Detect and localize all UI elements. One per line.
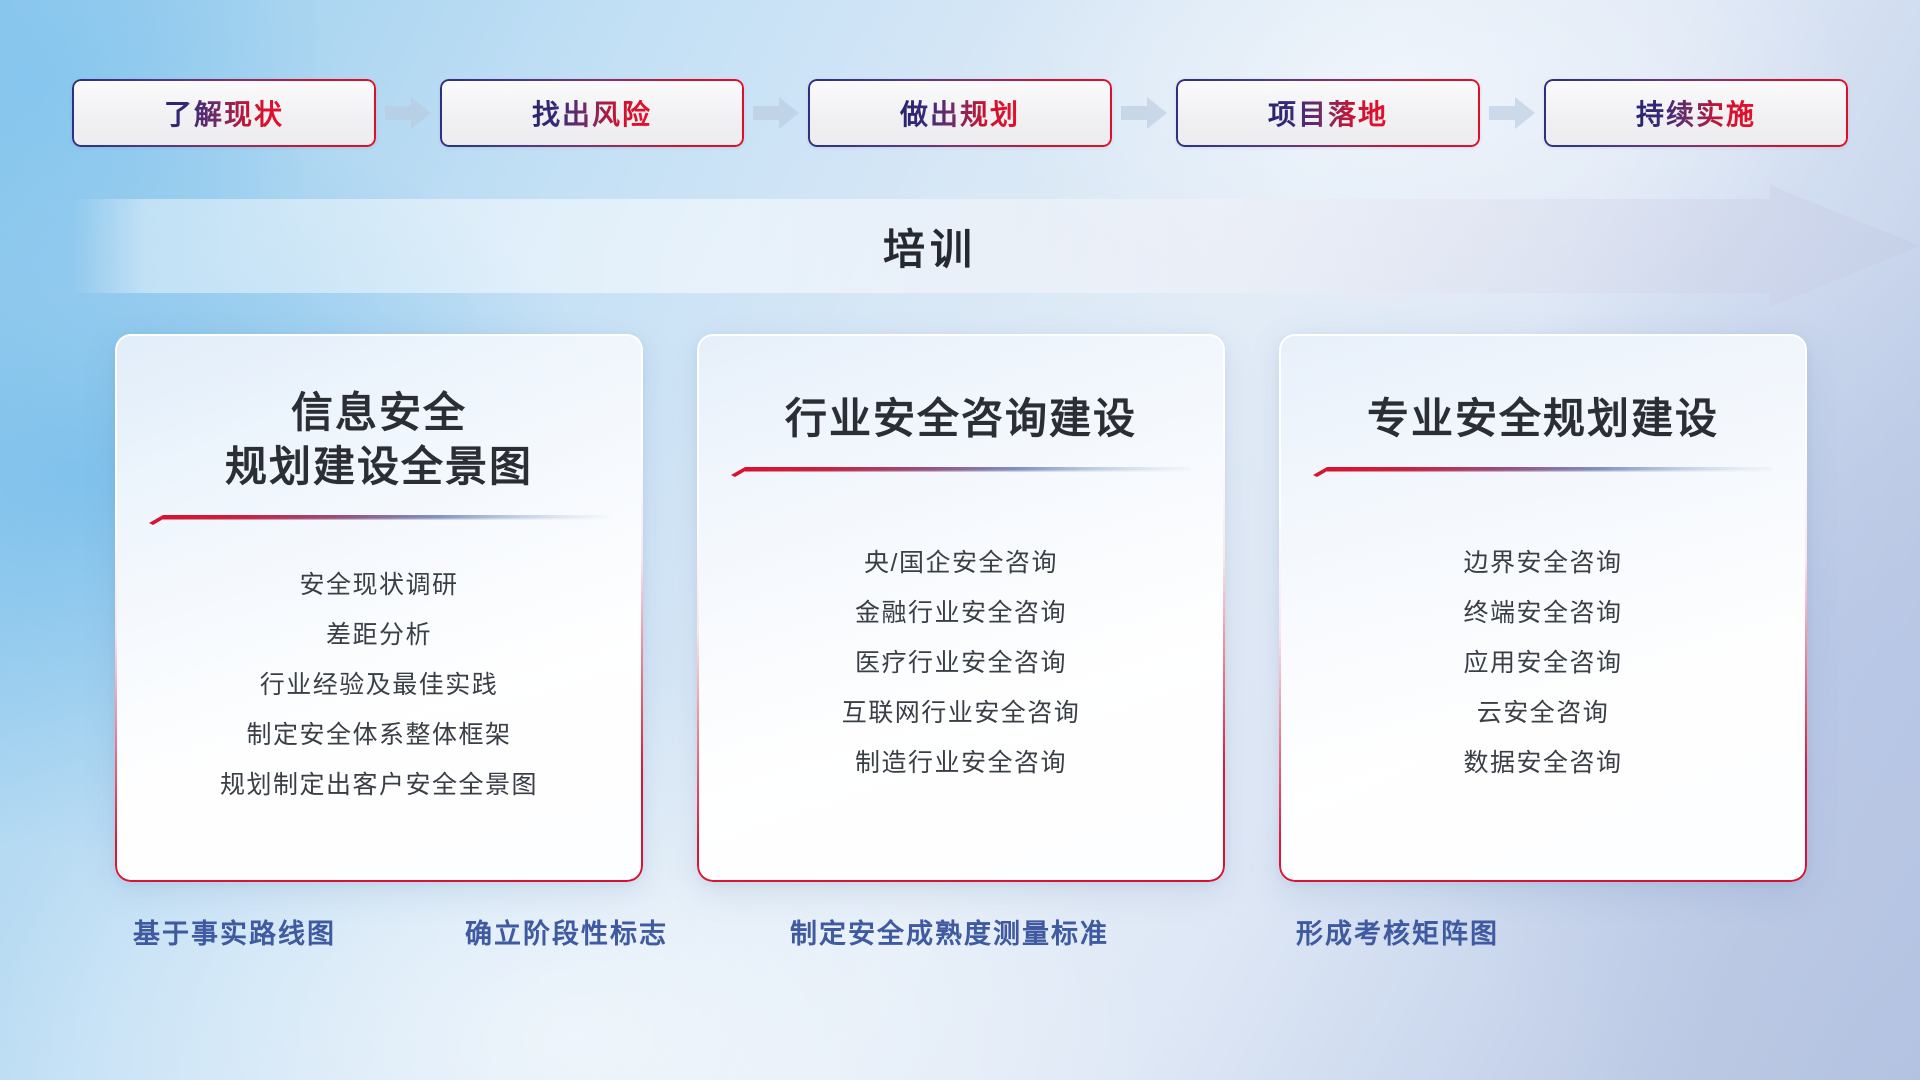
card-industry-security-consulting[interactable]: 行业安全咨询建设 xyxy=(697,334,1225,882)
card-list-item: 行业经验及最佳实践 xyxy=(260,660,499,710)
process-step-label: 持续实施 xyxy=(1636,93,1756,133)
card-title: 专业安全规划建设 xyxy=(1313,392,1773,446)
card-list-item: 数据安全咨询 xyxy=(1463,738,1622,788)
caption-row: 基于事实路线图 确立阶段性标志 制定安全成熟度测量标准 形成考核矩阵图 xyxy=(0,912,1920,960)
card-divider xyxy=(731,464,1191,480)
card-title: 行业安全咨询建设 xyxy=(731,392,1191,446)
card-item-list: 央/国企安全咨询 金融行业安全咨询 医疗行业安全咨询 互联网行业安全咨询 制造行… xyxy=(731,538,1191,788)
banner-title-wrap: 培训 xyxy=(0,185,1920,307)
card-info-security-blueprint[interactable]: 信息安全 规划建设全景图 xyxy=(115,334,643,882)
card-list-item: 云安全咨询 xyxy=(1477,688,1610,738)
card-list-item: 医疗行业安全咨询 xyxy=(855,638,1067,688)
caption-item: 形成考核矩阵图 xyxy=(1296,912,1499,951)
card-list-item: 安全现状调研 xyxy=(299,560,458,610)
arrow-right-icon xyxy=(385,95,431,131)
banner-title: 培训 xyxy=(883,216,977,277)
process-step-row: 了解现状 找出风险 做出规划 项目落地 持续实施 xyxy=(72,78,1848,148)
card-inner: 行业安全咨询建设 xyxy=(697,334,1225,882)
caption-item: 确立阶段性标志 xyxy=(465,912,668,951)
card-list-item: 应用安全咨询 xyxy=(1463,638,1622,688)
arrow-right-icon xyxy=(1121,95,1167,131)
card-list-item: 规划制定出客户安全全景图 xyxy=(220,760,538,810)
card-row: 信息安全 规划建设全景图 xyxy=(0,334,1920,882)
process-step-2[interactable]: 找出风险 xyxy=(440,79,744,147)
process-step-label: 找出风险 xyxy=(532,93,652,133)
card-divider xyxy=(1313,464,1773,480)
training-banner: 培训 xyxy=(0,185,1920,307)
card-list-item: 终端安全咨询 xyxy=(1463,588,1622,638)
card-title-line: 信息安全 xyxy=(149,386,609,440)
process-step-5[interactable]: 持续实施 xyxy=(1544,79,1848,147)
process-step-label: 做出规划 xyxy=(900,93,1020,133)
arrow-right-icon xyxy=(753,95,799,131)
card-item-list: 边界安全咨询 终端安全咨询 应用安全咨询 云安全咨询 数据安全咨询 xyxy=(1313,538,1773,788)
card-divider xyxy=(149,512,609,528)
card-inner: 信息安全 规划建设全景图 xyxy=(115,334,643,882)
card-list-item: 互联网行业安全咨询 xyxy=(842,688,1081,738)
card-list-item: 制造行业安全咨询 xyxy=(855,738,1067,788)
card-professional-security-planning[interactable]: 专业安全规划建设 xyxy=(1279,334,1807,882)
card-title-line: 行业安全咨询建设 xyxy=(731,392,1191,446)
card-title-line: 专业安全规划建设 xyxy=(1313,392,1773,446)
card-inner: 专业安全规划建设 xyxy=(1279,334,1807,882)
process-step-4[interactable]: 项目落地 xyxy=(1176,79,1480,147)
card-list-item: 金融行业安全咨询 xyxy=(855,588,1067,638)
caption-item: 制定安全成熟度测量标准 xyxy=(790,912,1109,951)
process-step-1[interactable]: 了解现状 xyxy=(72,79,376,147)
card-list-item: 边界安全咨询 xyxy=(1463,538,1622,588)
card-list-item: 差距分析 xyxy=(326,610,432,660)
process-step-label: 了解现状 xyxy=(164,93,284,133)
card-list-item: 制定安全体系整体框架 xyxy=(246,710,511,760)
process-step-label: 项目落地 xyxy=(1268,93,1388,133)
process-step-3[interactable]: 做出规划 xyxy=(808,79,1112,147)
card-list-item: 央/国企安全咨询 xyxy=(864,538,1058,588)
caption-item: 基于事实路线图 xyxy=(133,912,336,951)
card-item-list: 安全现状调研 差距分析 行业经验及最佳实践 制定安全体系整体框架 规划制定出客户… xyxy=(149,560,609,810)
arrow-right-icon xyxy=(1489,95,1535,131)
card-title: 信息安全 规划建设全景图 xyxy=(149,386,609,494)
card-title-line: 规划建设全景图 xyxy=(149,440,609,494)
